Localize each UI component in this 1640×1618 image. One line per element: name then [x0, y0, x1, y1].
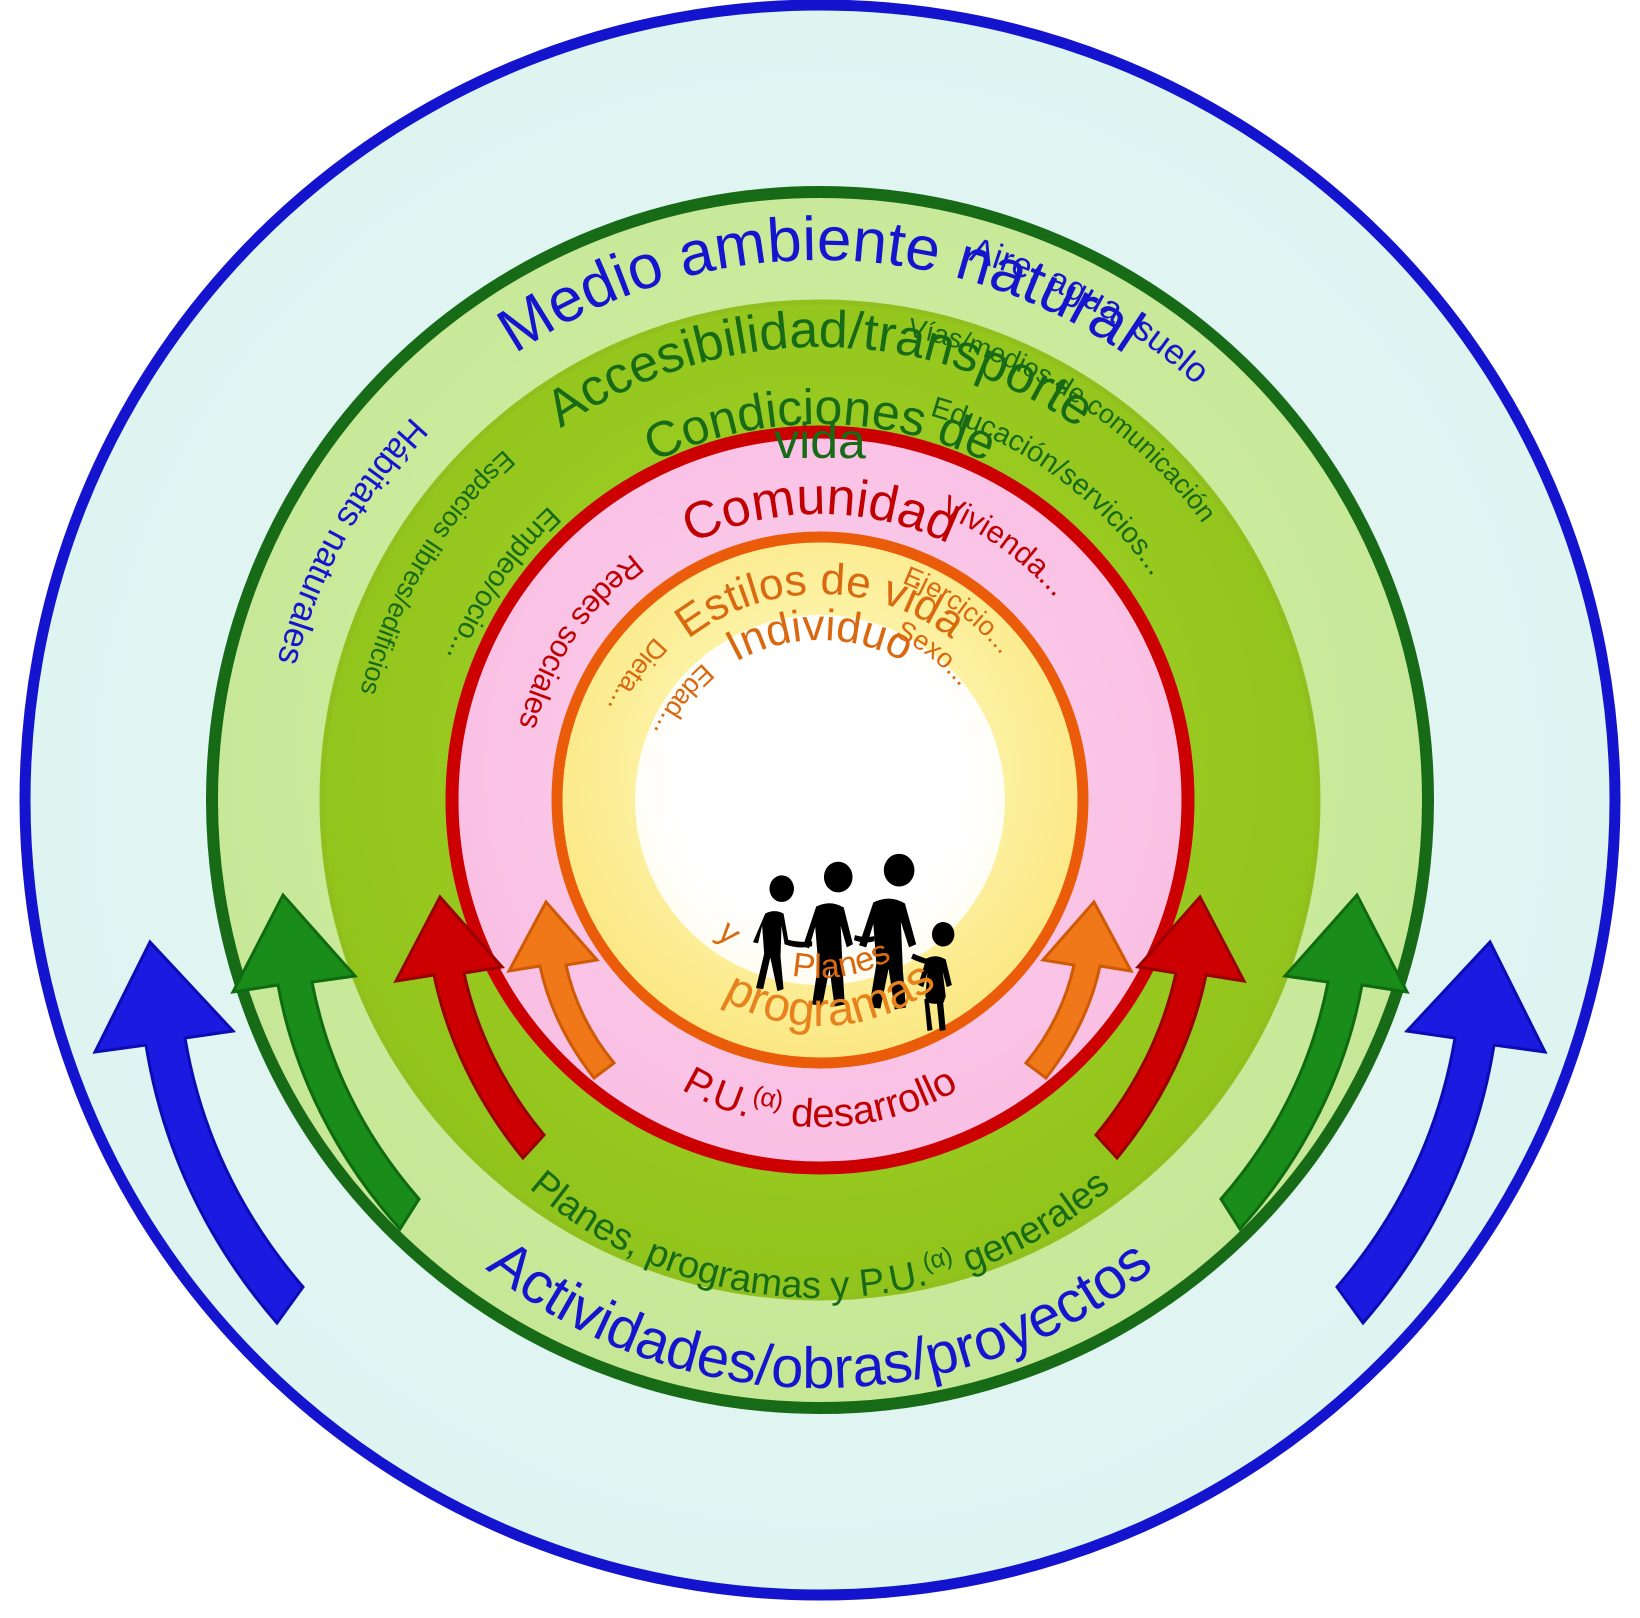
ring-label-condiciones-de-vida-line2: vida [774, 413, 866, 469]
diagram-canvas: Medio ambiente natural Hábitats naturale… [0, 0, 1640, 1618]
concentric-health-determinants-diagram: Medio ambiente natural Hábitats naturale… [0, 0, 1640, 1618]
